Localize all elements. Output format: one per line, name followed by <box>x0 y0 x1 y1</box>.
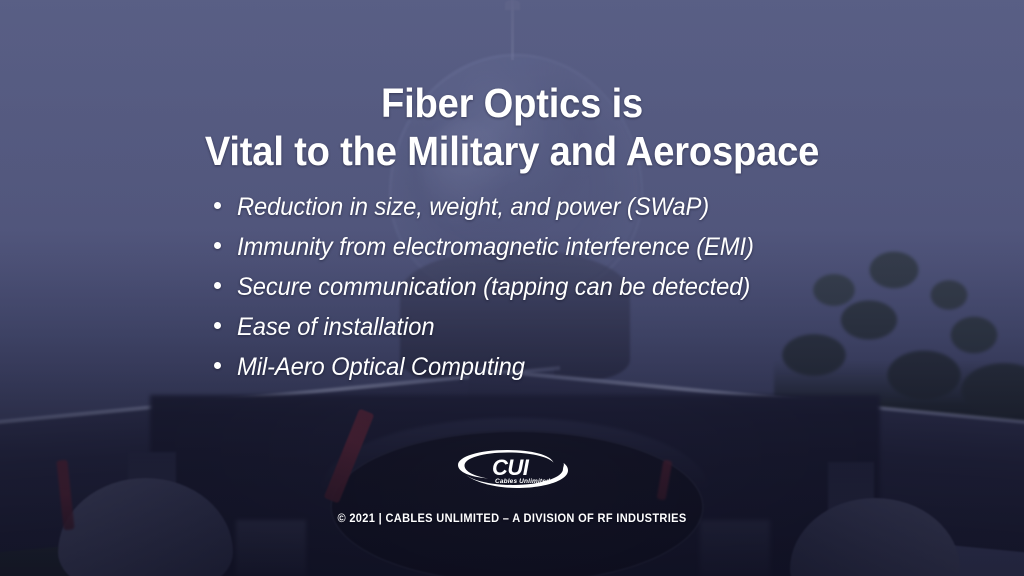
bullet-dot-icon <box>214 322 221 329</box>
cui-logo-tagline: Cables Unlimited <box>495 478 551 485</box>
bullet-dot-icon <box>214 242 221 249</box>
bullet-text: Immunity from electromagnetic interferen… <box>237 232 754 262</box>
slide-content: Fiber Optics is Vital to the Military an… <box>0 0 1024 576</box>
list-item: Mil-Aero Optical Computing <box>214 352 854 392</box>
bullet-text: Mil-Aero Optical Computing <box>237 352 525 382</box>
copyright-notice: © 2021 | CABLES UNLIMITED – A DIVISION O… <box>20 513 1003 525</box>
list-item: Secure communication (tapping can be det… <box>214 272 854 312</box>
presentation-slide: Fiber Optics is Vital to the Military an… <box>0 0 1024 576</box>
bullet-dot-icon <box>214 282 221 289</box>
cui-logo: CUI Cables Unlimited <box>455 447 570 491</box>
list-item: Ease of installation <box>214 312 854 352</box>
benefit-bullet-list: Reduction in size, weight, and power (SW… <box>214 192 854 392</box>
slide-title-line-1: Fiber Optics is <box>36 79 988 127</box>
bullet-dot-icon <box>214 202 221 209</box>
bullet-text: Reduction in size, weight, and power (SW… <box>237 192 709 222</box>
slide-title: Fiber Optics is Vital to the Military an… <box>36 79 988 175</box>
slide-title-line-2: Vital to the Military and Aerospace <box>36 127 988 175</box>
bullet-text: Secure communication (tapping can be det… <box>237 272 750 302</box>
bullet-text: Ease of installation <box>237 312 434 342</box>
bullet-dot-icon <box>214 362 221 369</box>
list-item: Reduction in size, weight, and power (SW… <box>214 192 854 232</box>
cui-logo-wordmark: CUI <box>492 455 530 480</box>
list-item: Immunity from electromagnetic interferen… <box>214 232 854 272</box>
